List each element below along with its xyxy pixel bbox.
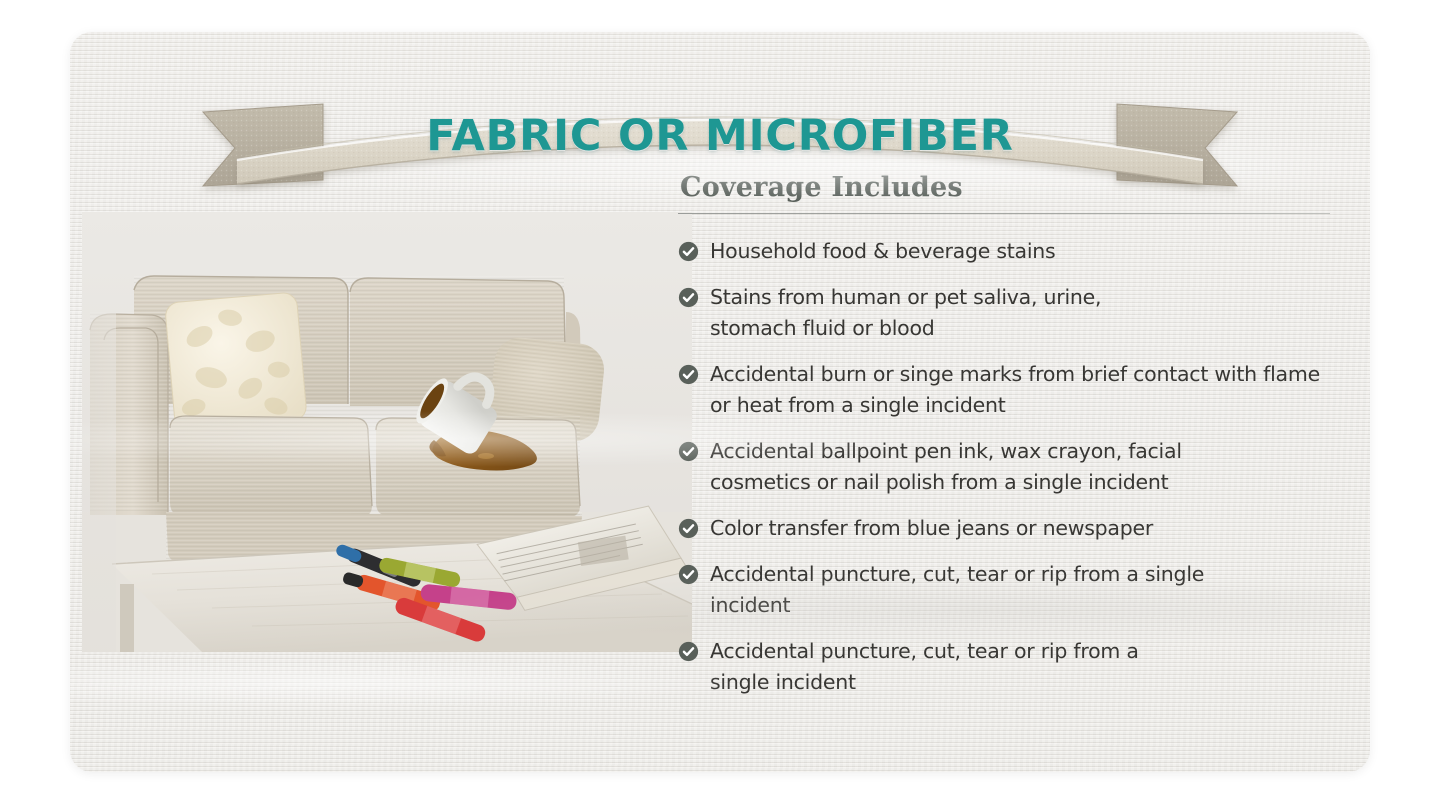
list-item: Household food & beverage stains [678, 236, 1350, 267]
check-circle-icon [678, 564, 699, 585]
list-item-text: Color transfer from blue jeans or newspa… [710, 513, 1153, 544]
list-item-text: Household food & beverage stains [710, 236, 1056, 267]
list-item-text: Accidental ballpoint pen ink, wax crayon… [710, 436, 1240, 498]
slide-root: FABRIC OR MICROFIBER Coverage Includes H… [0, 0, 1440, 810]
check-circle-icon [678, 641, 699, 662]
list-item: Accidental puncture, cut, tear or rip fr… [678, 636, 1350, 698]
check-circle-icon [678, 287, 699, 308]
list-item: Color transfer from blue jeans or newspa… [678, 513, 1350, 544]
check-circle-icon [678, 364, 699, 385]
heading-divider [678, 213, 1330, 214]
check-circle-icon [678, 441, 699, 462]
list-item: Accidental burn or singe marks from brie… [678, 359, 1350, 421]
list-item: Accidental ballpoint pen ink, wax crayon… [678, 436, 1350, 498]
list-item-text: Accidental puncture, cut, tear or rip fr… [710, 559, 1220, 621]
coverage-panel: Coverage Includes Household food & bever… [678, 172, 1350, 713]
list-item: Accidental puncture, cut, tear or rip fr… [678, 559, 1350, 621]
sofa-photo [82, 212, 692, 652]
list-item: Stains from human or pet saliva, urine, … [678, 282, 1350, 344]
list-item-text: Accidental puncture, cut, tear or rip fr… [710, 636, 1140, 698]
check-circle-icon [678, 518, 699, 539]
list-item-text: Accidental burn or singe marks from brie… [710, 359, 1330, 421]
coverage-list: Household food & beverage stains Stains … [678, 236, 1350, 698]
list-item-text: Stains from human or pet saliva, urine, … [710, 282, 1190, 344]
content-card: FABRIC OR MICROFIBER Coverage Includes H… [70, 32, 1370, 772]
check-circle-icon [678, 241, 699, 262]
title-banner: FABRIC OR MICROFIBER [195, 74, 1245, 199]
